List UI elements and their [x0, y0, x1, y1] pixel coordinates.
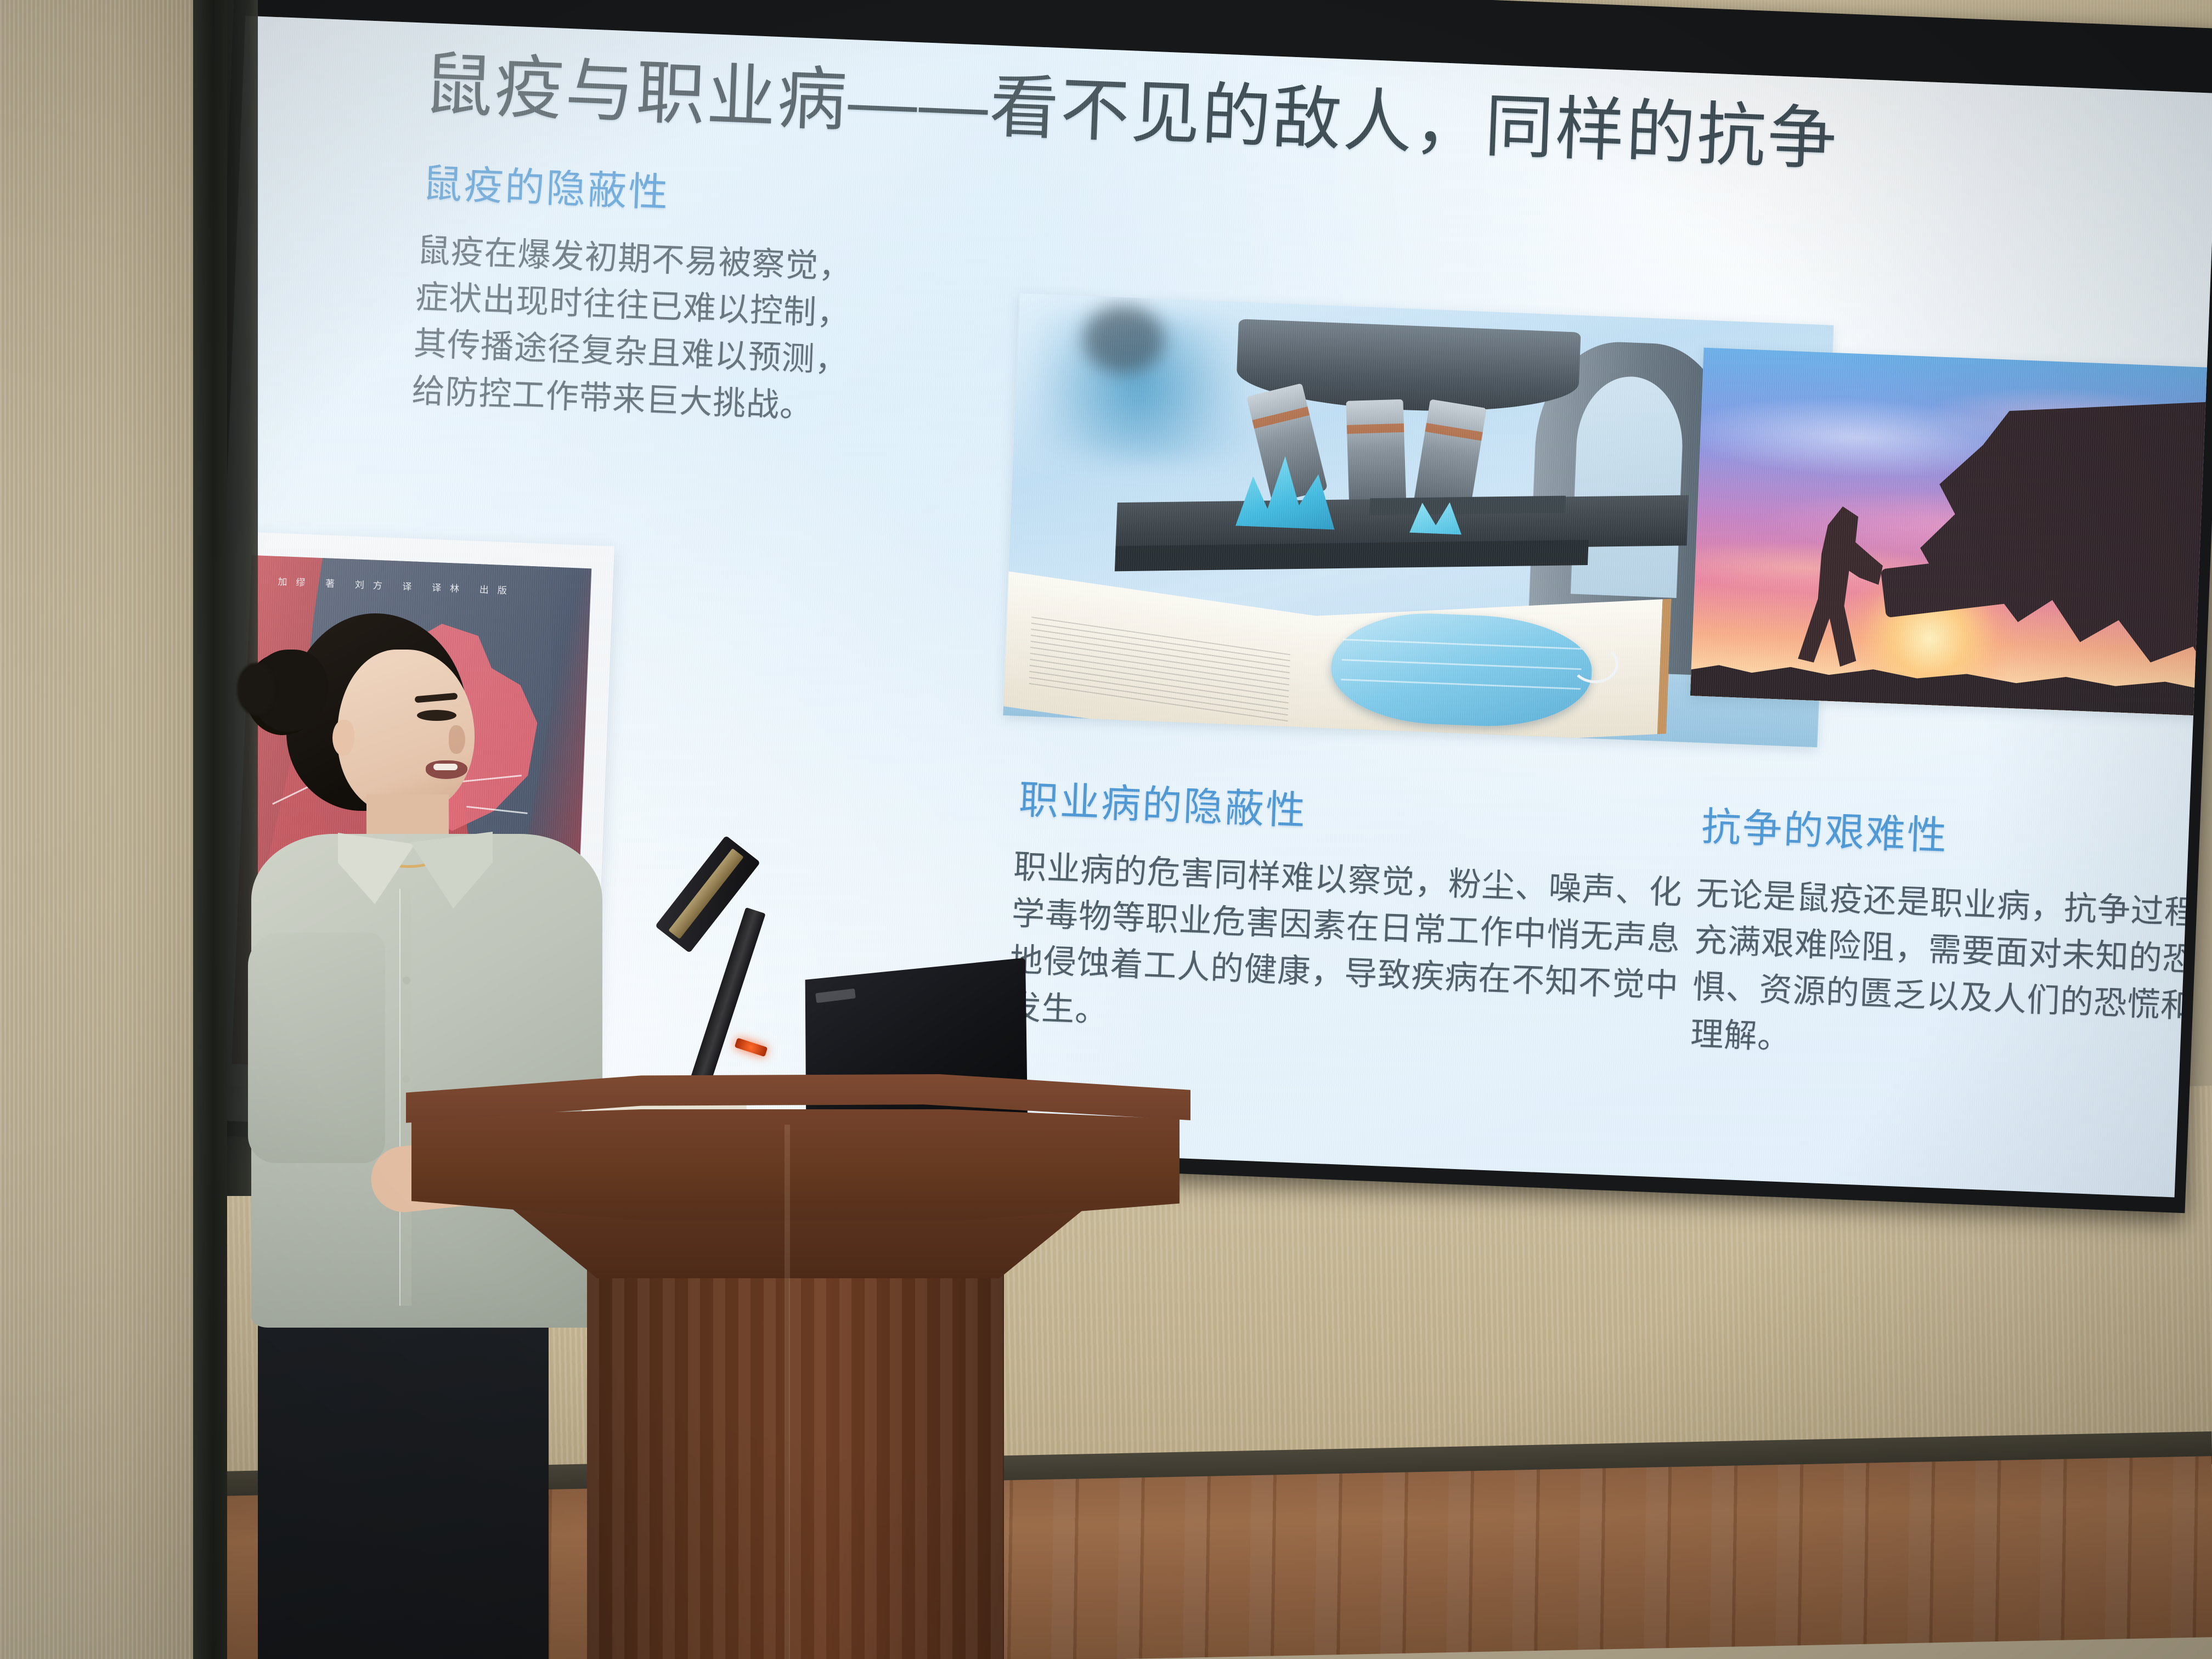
- presenter-ear: [332, 720, 354, 756]
- sunset-silhouette-photo: [1690, 348, 2212, 718]
- section-heading-plague-concealment: 鼠疫的隐蔽性: [422, 160, 670, 217]
- section-body-occupational-concealment: 职业病的危害同样难以察觉，粉尘、噪声、化学毒物等职业危害因素在日常工作中悄无声息…: [1007, 843, 1694, 1057]
- section-body-plague-concealment: 鼠疫在爆发初期不易被察觉，症状出现时往往已难以控制，其传播途径复杂且难以预测，给…: [411, 227, 873, 431]
- presenter-sleeve: [248, 933, 385, 1163]
- presenter-eye: [417, 710, 456, 721]
- wall-shadow-strip: [193, 0, 227, 1659]
- podium: [406, 1059, 1190, 1659]
- podium-column: [587, 1262, 1004, 1659]
- left-wall-panel: [0, 0, 193, 1659]
- screenshot-stage: 鼠疫与职业病——看不见的敌人，同样的抗争 鼠疫的隐蔽性 鼠疫在爆发初期不易被察觉…: [0, 0, 2212, 1659]
- section-body-struggle-difficulty: 无论是鼠疫还是职业病，抗争过程都充满艰难险阻，需要面对未知的恐惧、资源的匮乏以及…: [1690, 870, 2212, 1079]
- section-heading-occupational-concealment: 职业病的隐蔽性: [1018, 776, 1308, 835]
- section-heading-struggle-difficulty: 抗争的艰难性: [1701, 803, 1949, 860]
